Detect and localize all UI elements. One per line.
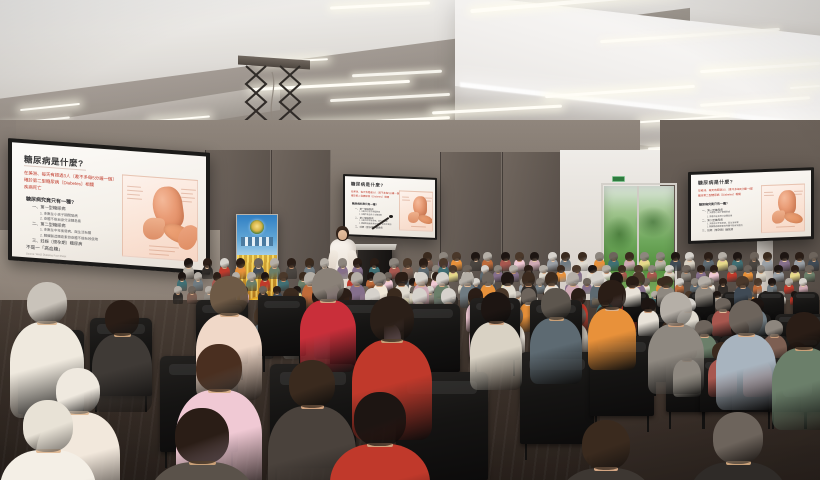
audience-member-head: [210, 276, 248, 316]
screen-left: 糖尿病是什麼? 在美洲、每天有超過3人〔差不多每5分鐘一個〕 確診第二型糖尿病〔…: [8, 138, 210, 275]
slide-left: 糖尿病是什麼? 在美洲、每天有超過3人〔差不多每5分鐘一個〕 確診第二型糖尿病〔…: [12, 142, 206, 270]
audience-member-head: [441, 288, 456, 305]
screen-right: 糖尿病是什麼? 在美洲、每天有超過3人〔差不多每5分鐘一個〕 確診第二型糖尿病〔…: [688, 167, 814, 244]
audience-member-head: [312, 268, 344, 302]
audience-member-head: [220, 258, 229, 268]
audience-member-head: [261, 272, 269, 281]
audience-member-head: [196, 344, 242, 392]
audience-member-head: [373, 272, 386, 286]
audience-member-head: [595, 252, 604, 261]
audience-member-torso: [716, 334, 776, 410]
microphone-head-icon: [389, 215, 393, 218]
audience-member-head: [763, 252, 772, 261]
audience-member-head: [598, 280, 626, 310]
audience-member-head: [665, 265, 674, 273]
slide-anatomy-diagram-right: [761, 184, 805, 234]
audience-member-head: [671, 252, 680, 261]
audience-member-head: [370, 258, 379, 268]
audience-member-head: [522, 272, 535, 286]
audience-member: [648, 292, 704, 396]
audience-member-head: [419, 258, 428, 268]
audience-member-head: [656, 252, 665, 261]
audience-member-head: [719, 278, 727, 286]
slide-anatomy-diagram: [122, 174, 198, 262]
audience-member-torso: [0, 450, 96, 480]
audience-member-head: [545, 272, 558, 286]
audience-member: [530, 288, 582, 386]
audience-member-head: [768, 278, 776, 286]
audience-member-head: [370, 296, 414, 342]
audience-member-head: [236, 258, 245, 268]
audience-member: [588, 280, 636, 372]
audience-member-head: [27, 282, 67, 324]
audience-member-head: [403, 258, 412, 268]
audience-member-head: [354, 392, 406, 446]
audience-member-torso: [588, 308, 636, 370]
audience-member-head: [640, 252, 649, 261]
slide-closing: 不是一「高血糖」: [26, 244, 63, 253]
screen-left-canvas: 糖尿病是什麼? 在美洲、每天有超過3人〔差不多每5分鐘一個〕 確診第二型糖尿病〔…: [12, 142, 206, 270]
audience-member: [150, 408, 254, 480]
chair-leg: [525, 442, 527, 460]
audience-member-head: [774, 265, 783, 273]
audience-member-head: [785, 278, 793, 286]
audience-member-head: [685, 252, 694, 261]
audience-member-head: [578, 252, 587, 261]
audience-member-head: [625, 252, 634, 261]
audience-member-head: [515, 252, 524, 261]
slide-title-right: 糖尿病是什麼?: [698, 178, 733, 186]
audience-member-head: [676, 278, 684, 286]
slide-subheading-right: 糖尿病究竟只有一種?: [699, 201, 728, 206]
audience-member-head: [389, 258, 398, 268]
audience-member: [470, 292, 522, 392]
audience-member-head: [736, 276, 749, 288]
slide-bullet-6: 三、妊娠〔懷孕期〕糖尿病: [702, 228, 733, 233]
lectern-top: [353, 244, 396, 250]
slide-title-center: 糖尿病是什麼?: [351, 181, 384, 188]
audience-member-head: [704, 252, 713, 261]
chair[interactable]: [258, 296, 306, 356]
audience-member-head: [713, 412, 763, 464]
audience-member-head: [353, 258, 362, 268]
audience-member-head: [780, 252, 789, 261]
duodenum-organ: [143, 217, 165, 241]
audience-member-head: [718, 252, 727, 261]
audience-member-head: [452, 252, 461, 261]
banner-title-text: [241, 237, 273, 246]
audience-member-head: [461, 272, 474, 286]
screen-center: 糖尿病是什麼? 在美洲、每天有超過3人〔差不多每5分鐘一個〕 確診第二型糖尿病〔…: [343, 174, 437, 240]
slide-anatomy-diagram-center: [399, 190, 433, 231]
slide-intro-right-1: 確診第二型糖尿病〔Diabetes〕相關: [698, 193, 741, 199]
audience-member-head: [795, 252, 804, 261]
audience-member-head: [287, 258, 296, 268]
audience-member-head: [744, 265, 753, 273]
audience-member-head: [203, 258, 212, 268]
audience-member: [716, 300, 776, 412]
audience-member-head: [174, 286, 182, 294]
audience-member-head: [786, 312, 820, 350]
audience-member-head: [175, 408, 229, 464]
screen-center-canvas: 糖尿病是什麼? 在美洲、每天有超過3人〔差不多每5分鐘一個〕 確診第二型糖尿病〔…: [345, 176, 435, 238]
audience-member: [173, 286, 183, 306]
audience-member-head: [320, 258, 329, 268]
audience-member-head: [270, 258, 279, 268]
audience-member-head: [750, 252, 759, 261]
slide-intro-center-1: 確診第二型糖尿病〔Diabetes〕相關: [351, 194, 389, 199]
seminar-hall-photo: 糖尿病是什麼? 在美洲、每天有超過3人〔差不多每5分鐘一個〕 確診第二型糖尿病〔…: [0, 0, 820, 480]
audience-member: [0, 400, 96, 480]
audience-member-head: [648, 265, 657, 273]
banner-logo-icon: [250, 220, 264, 234]
audience-member-head: [660, 292, 692, 326]
audience-member-head: [395, 272, 408, 286]
audience-member: [560, 420, 652, 480]
audience-member-head: [757, 265, 766, 273]
audience-member-head: [582, 420, 630, 470]
chair-leg: [263, 354, 265, 372]
audience-member-head: [483, 252, 492, 261]
audience-member-head: [188, 286, 196, 294]
audience-member: [690, 412, 786, 480]
audience-member-head: [279, 272, 287, 281]
audience-member-head: [501, 252, 510, 261]
audience-member-torso: [530, 318, 582, 384]
audience-member-head: [305, 258, 314, 268]
audience-member-head: [482, 272, 495, 286]
audience-member-head: [436, 272, 449, 286]
audience-member-head: [733, 252, 742, 261]
screen-right-canvas: 糖尿病是什麼? 在美洲、每天有超過3人〔差不多每5分鐘一個〕 確診第二型糖尿病〔…: [691, 170, 811, 241]
audience-member-head: [561, 252, 570, 261]
audience-member-head: [501, 272, 514, 286]
audience-member-head: [481, 292, 511, 324]
audience-member-head: [609, 252, 618, 261]
audience-member: [300, 268, 356, 374]
audience-member-head: [178, 272, 186, 281]
audience-member-head: [530, 252, 539, 261]
audience-member-head: [729, 300, 763, 336]
audience-member-head: [338, 258, 347, 268]
slide-footer: Source: WHO Diabetes Fact Sheet: [26, 252, 66, 258]
audience-member-head: [254, 258, 263, 268]
exit-sign: [612, 176, 625, 182]
audience-member-head: [805, 265, 814, 273]
audience-member-torso: [470, 322, 522, 390]
audience-member-head: [471, 252, 480, 261]
slide-intro-2: 疾病死亡: [24, 184, 42, 192]
audience-member-head: [548, 252, 557, 261]
audience-member-head: [184, 258, 193, 268]
audience-member-head: [415, 272, 428, 286]
audience-member-head: [541, 288, 571, 320]
audience-member-head: [105, 300, 139, 336]
audience-member-head: [289, 360, 335, 408]
audience-member-torso: [648, 324, 704, 394]
audience-member-head: [273, 286, 281, 294]
audience-member-head: [809, 252, 818, 261]
chair-leg: [669, 410, 671, 429]
audience-member-head: [567, 272, 580, 286]
audience-member-head: [682, 265, 691, 273]
audience-member-head: [799, 278, 807, 286]
audience-member-head: [439, 258, 448, 268]
audience-member-head: [728, 265, 737, 273]
audience-member-torso: [330, 444, 430, 480]
audience-member: [330, 392, 430, 480]
audience-member-head: [23, 400, 73, 452]
audience-member-head: [698, 276, 711, 288]
audience-member-head: [754, 278, 762, 286]
audience-member-head: [660, 276, 673, 288]
